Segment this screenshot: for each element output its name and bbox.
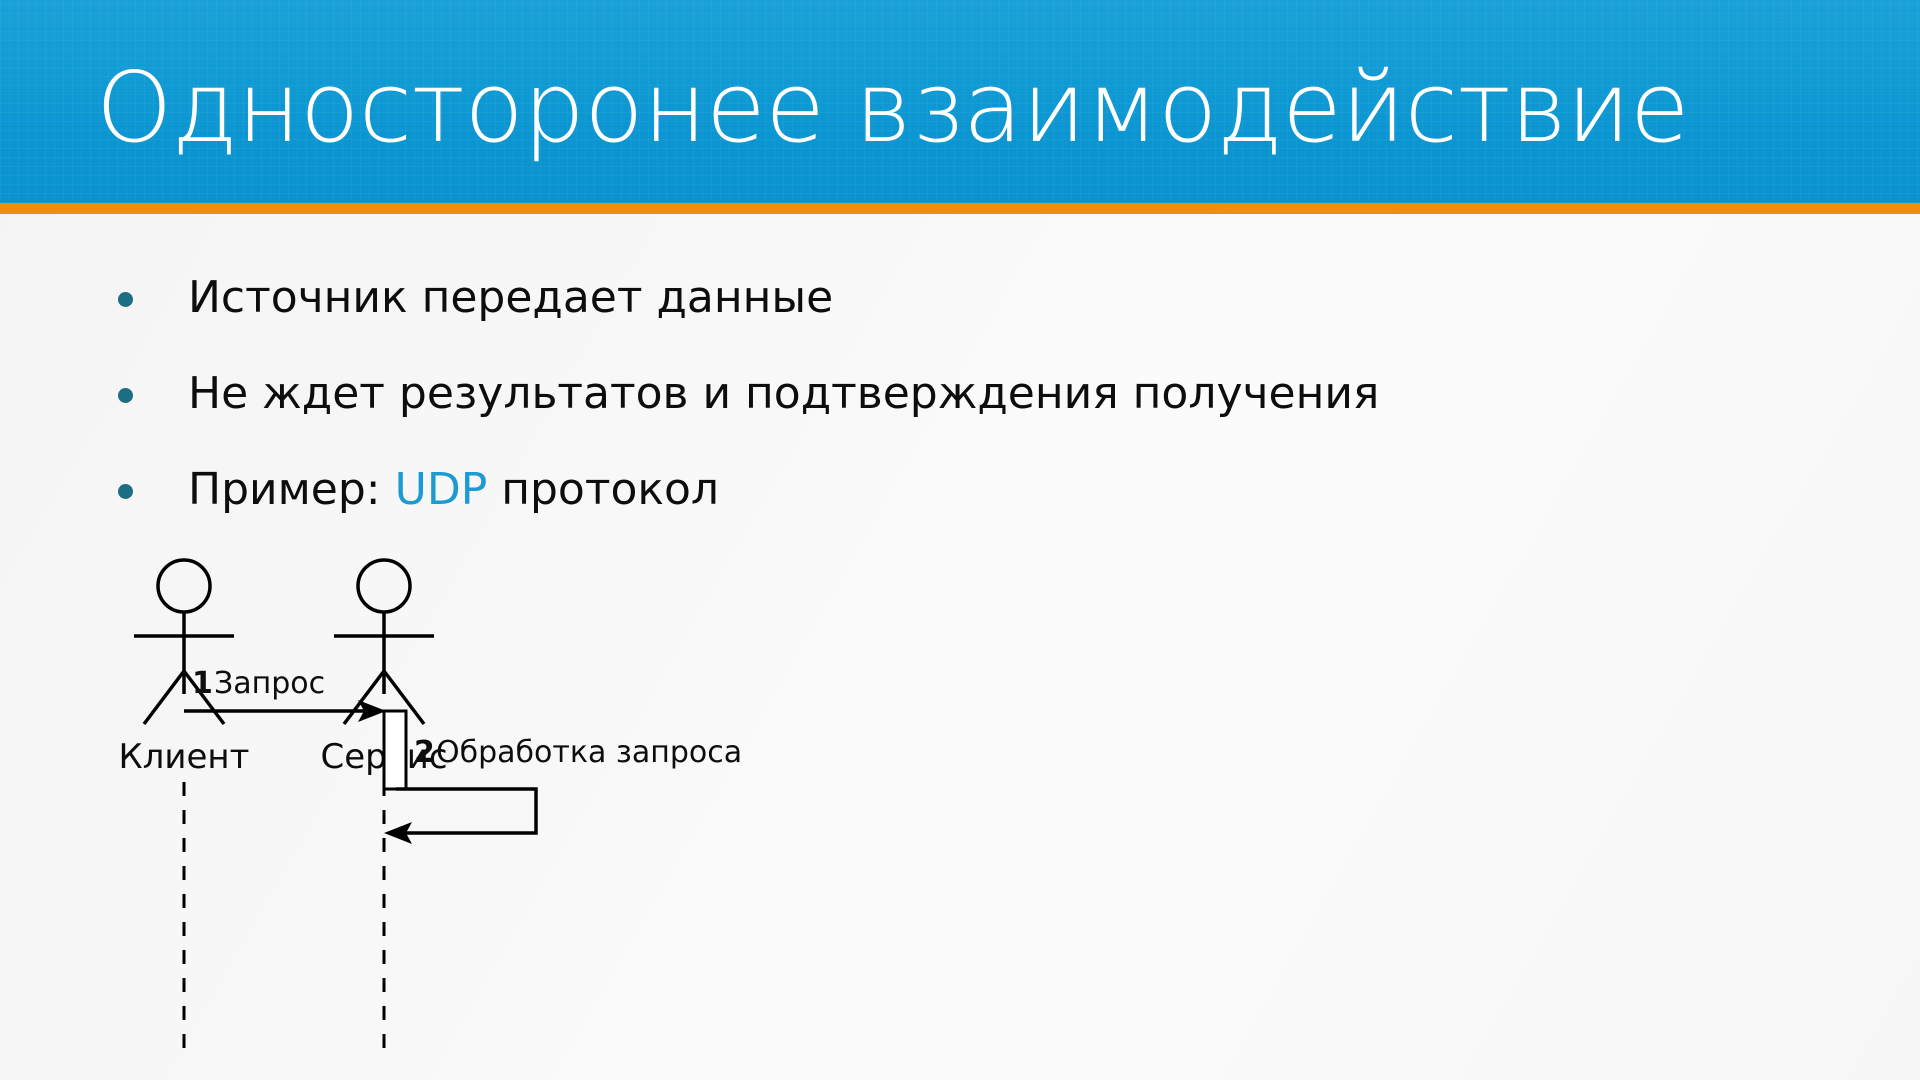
bullet-text-tail: протокол <box>487 464 719 515</box>
bullet-text: Источник передает данные <box>188 272 833 323</box>
uml-sequence-diagram: Клиент Сервис 1 Запрос <box>96 548 1096 1068</box>
actor-label-client: Клиент <box>119 737 250 777</box>
bullet-text: Не ждет результатов и подтверждения полу… <box>188 368 1379 419</box>
slide: Одностоpонее взаимодействие Источник пер… <box>0 0 1920 1080</box>
title-underline-rule <box>0 203 1920 214</box>
bullet-text: Пример: <box>188 464 395 515</box>
bullet-list: Источник передает данные Не ждет результ… <box>104 272 1704 560</box>
stick-figure-leg-left-icon <box>144 671 184 724</box>
bullet-dot-icon <box>118 484 133 499</box>
message-2-self-call: 2 Обработка запроса <box>384 735 742 844</box>
page-title: Одностоpонее взаимодействие <box>96 52 1856 164</box>
list-item: Пример: UDP протокол <box>104 464 1704 516</box>
bullet-dot-icon <box>118 292 133 307</box>
list-item: Не ждет результатов и подтверждения полу… <box>104 368 1704 420</box>
message-1-label: Запрос <box>214 666 325 701</box>
bullet-accent-udp: UDP <box>395 464 488 515</box>
stick-figure-head-icon <box>158 560 210 612</box>
bullet-dot-icon <box>118 388 133 403</box>
activation-bar-service <box>384 711 406 789</box>
message-1-number: 1 <box>192 666 213 701</box>
message-2-self-call-path <box>392 789 536 833</box>
message-2-number: 2 <box>414 735 435 770</box>
stick-figure-head-icon <box>358 560 410 612</box>
list-item: Источник передает данные <box>104 272 1704 324</box>
message-2-label: Обработка запроса <box>436 735 742 770</box>
